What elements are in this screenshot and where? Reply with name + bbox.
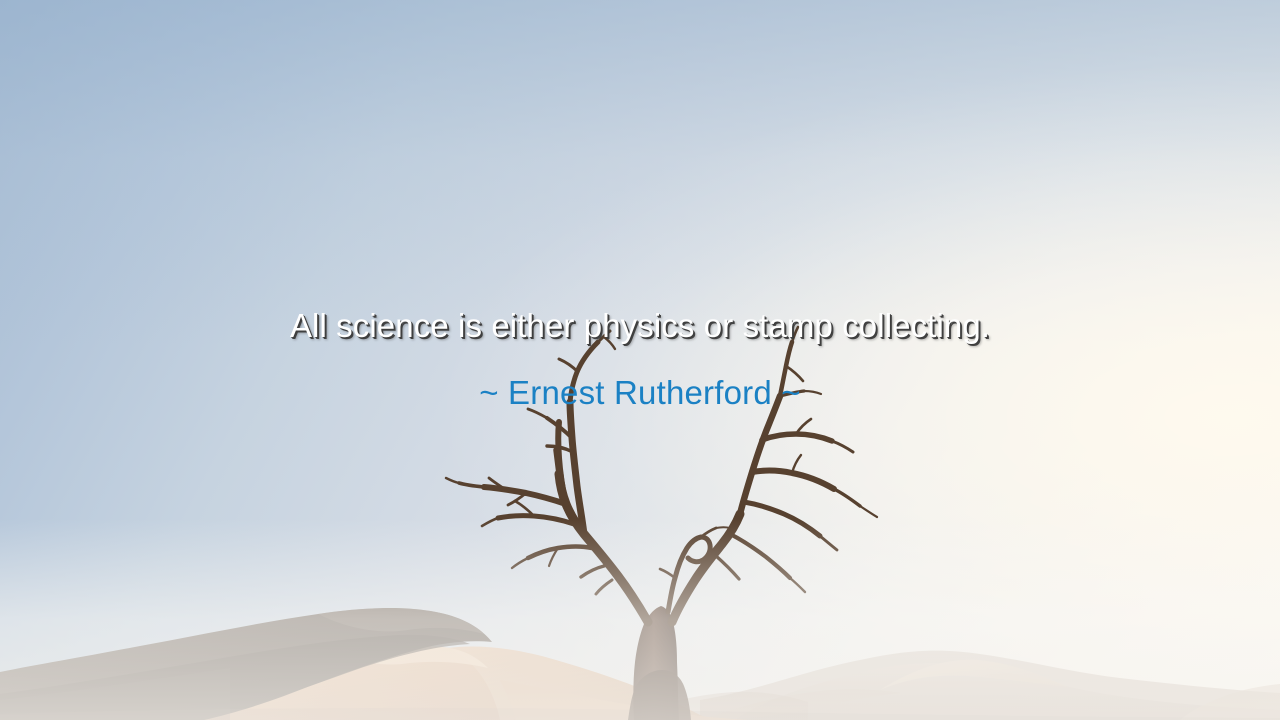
quote-author: ~ Ernest Rutherford ~ [479, 374, 801, 412]
quote-text: All science is either physics or stamp c… [290, 306, 990, 346]
quote-overlay: All science is either physics or stamp c… [0, 0, 1280, 720]
quote-image-canvas: All science is either physics or stamp c… [0, 0, 1280, 720]
